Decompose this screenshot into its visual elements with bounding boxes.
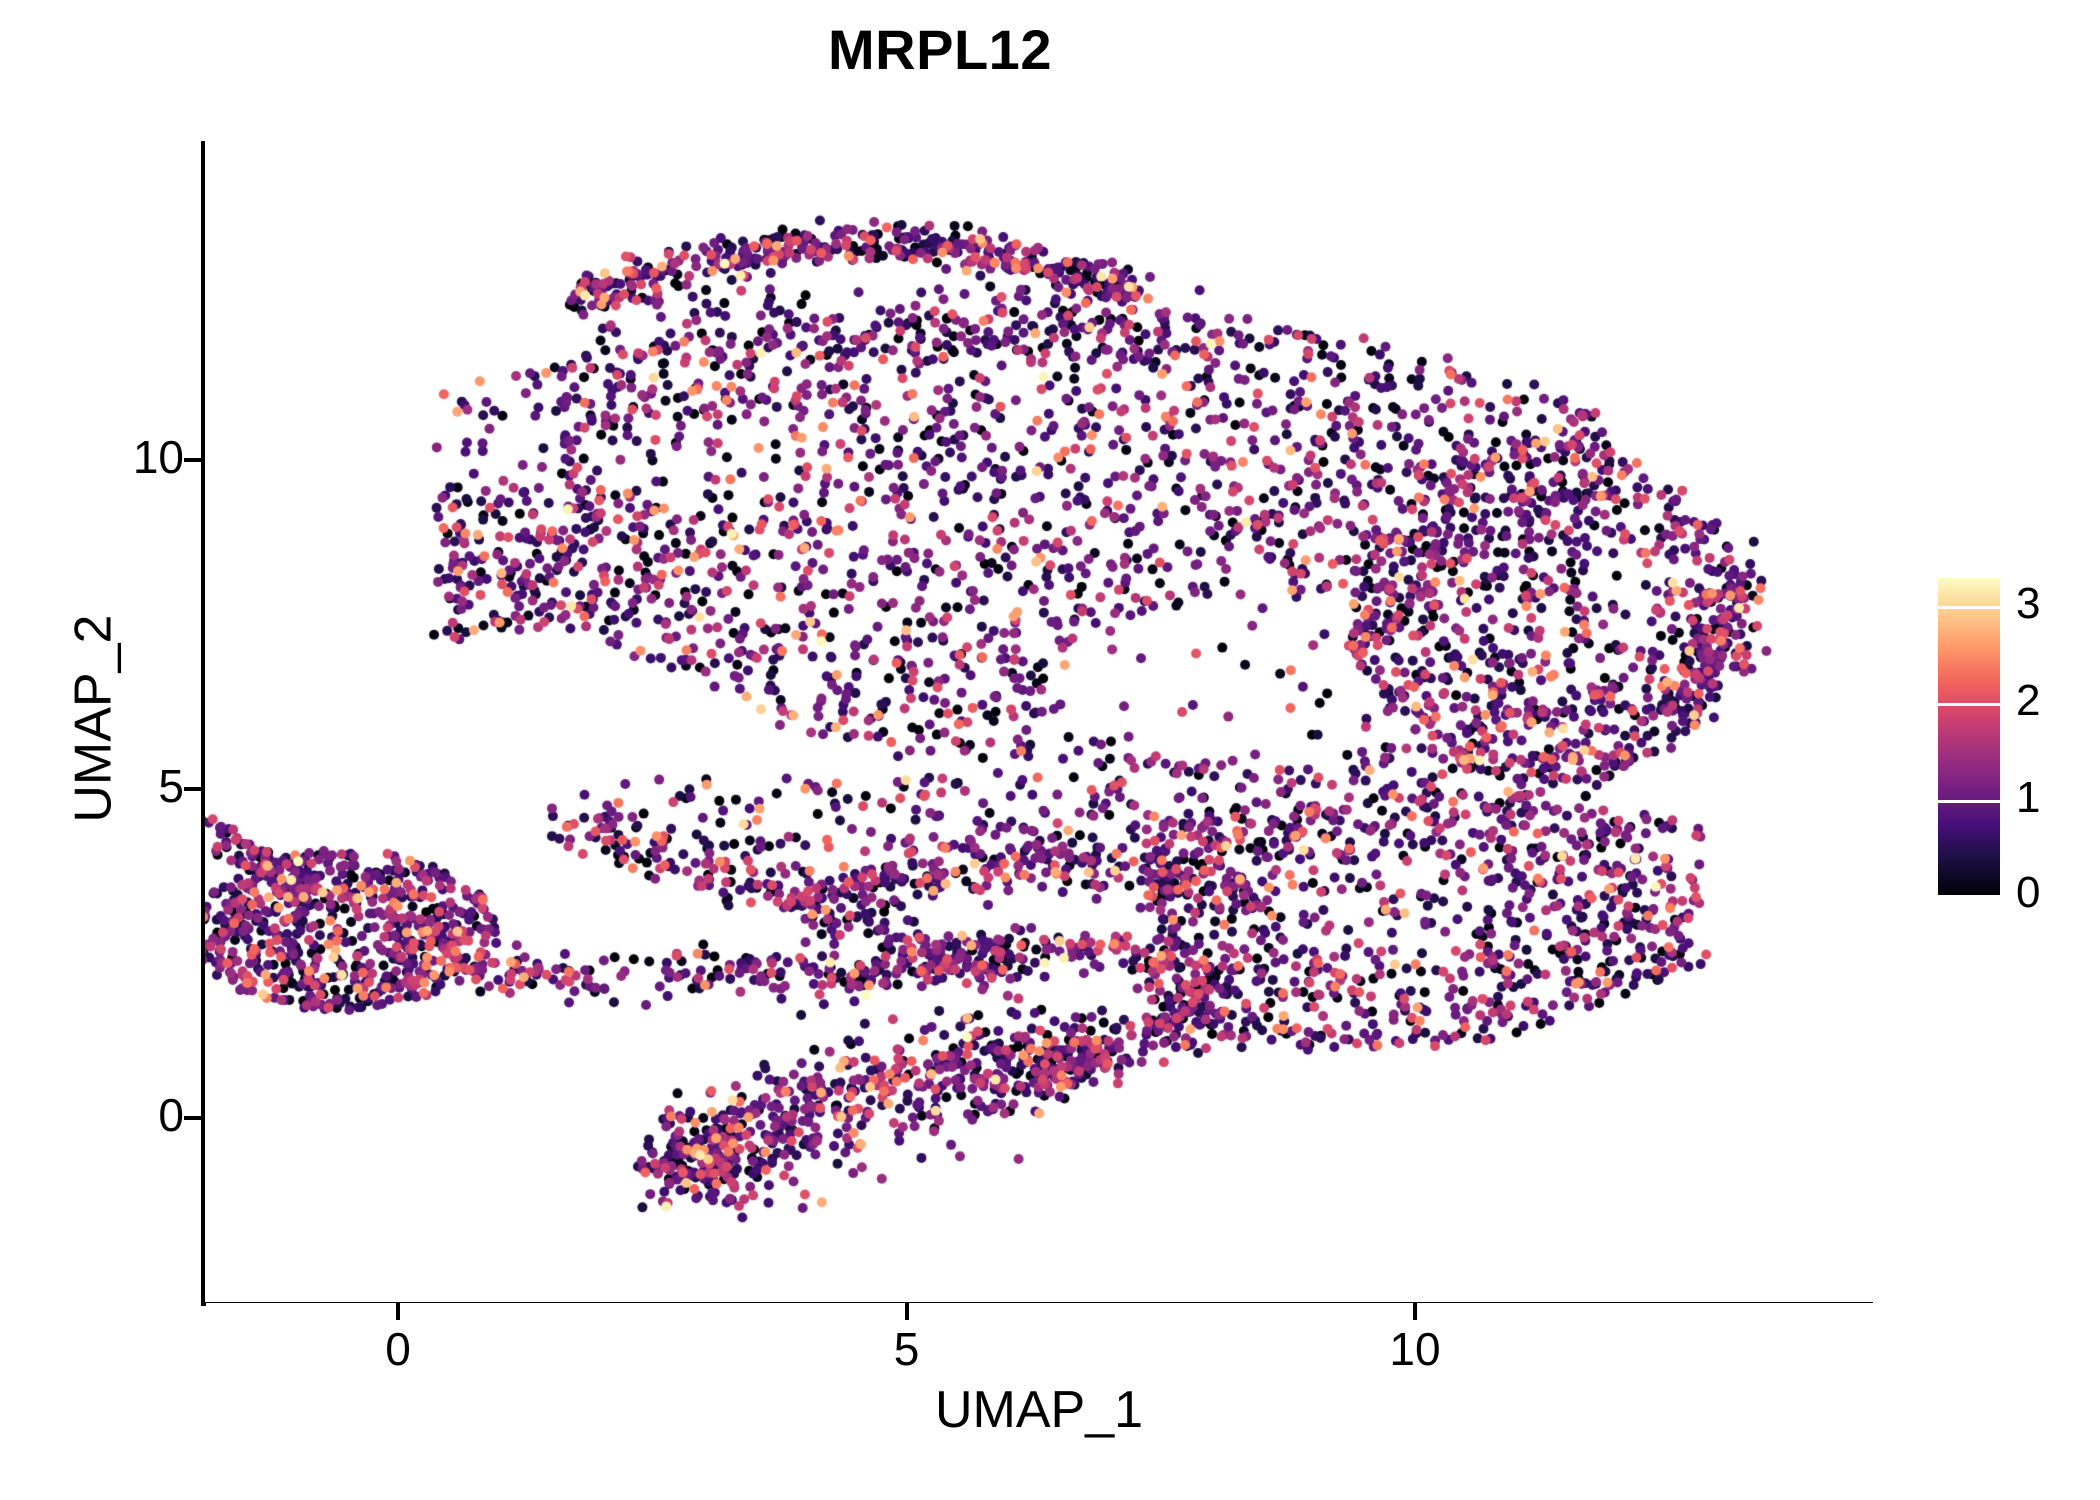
scatter-point-cloud <box>205 141 1873 1302</box>
colorbar-tick-0 <box>1938 895 2000 898</box>
x-tick-label-10: 10 <box>1345 1324 1485 1375</box>
x-tick-mark-0 <box>396 1303 400 1320</box>
x-tick-mark-10 <box>1413 1303 1417 1320</box>
colorbar-label-1: 1 <box>2016 776 2040 820</box>
y-tick-mark-0 <box>184 1116 201 1120</box>
y-axis-label: UMAP_2 <box>65 339 122 1099</box>
x-tick-label-0: 0 <box>328 1324 468 1375</box>
colorbar-label-0: 0 <box>2016 871 2040 915</box>
umap-feature-plot: MRPL12 0 5 10 10 5 0 UMAP_1 UMAP_2 3 2 1… <box>0 0 2100 1500</box>
colorbar-gradient <box>1938 578 2000 898</box>
page-title: MRPL12 <box>0 22 1880 78</box>
colorbar-tick-1 <box>1938 800 2000 803</box>
y-tick-mark-5 <box>184 787 201 791</box>
x-tick-label-5: 5 <box>837 1324 977 1375</box>
colorbar-tick-3 <box>1938 606 2000 609</box>
colorbar-tick-2 <box>1938 703 2000 706</box>
plot-panel <box>205 141 1873 1302</box>
colorbar-label-2: 2 <box>2016 679 2040 723</box>
y-tick-mark-10 <box>184 458 201 462</box>
x-tick-mark-5 <box>905 1303 909 1320</box>
x-axis-label: UMAP_1 <box>205 1382 1873 1439</box>
colorbar-label-3: 3 <box>2016 582 2040 626</box>
